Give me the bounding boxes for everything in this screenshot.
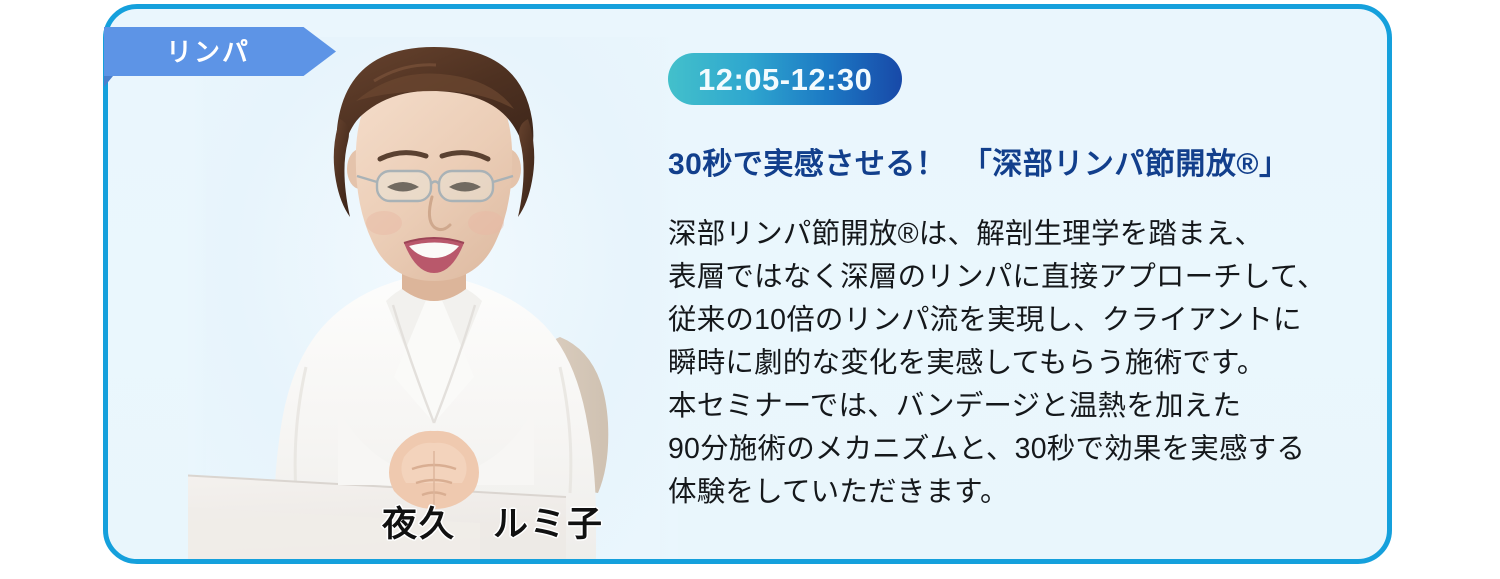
- session-content: 12:05-12:30 30秒で実感させる！ 「深部リンパ節開放®」 深部リンパ…: [668, 53, 1368, 514]
- category-ribbon-label: リンパ: [166, 39, 274, 65]
- session-time-badge: 12:05-12:30: [668, 53, 902, 105]
- description-line: 深部リンパ節開放®は、解剖生理学を踏まえ、: [668, 213, 1368, 256]
- session-card: 夜久 ルミ子 12:05-12:30 30秒で実感させる！ 「深部リンパ節開放®…: [103, 4, 1392, 564]
- description-line: 体験をしていただきます。: [668, 471, 1368, 514]
- session-title: 30秒で実感させる！ 「深部リンパ節開放®」: [668, 147, 1368, 183]
- description-line: 本セミナーでは、バンデージと温熱を加えた: [668, 385, 1368, 428]
- session-card-inner: 夜久 ルミ子 12:05-12:30 30秒で実感させる！ 「深部リンパ節開放®…: [108, 9, 1387, 559]
- session-card-stage: 夜久 ルミ子 12:05-12:30 30秒で実感させる！ 「深部リンパ節開放®…: [0, 0, 1500, 579]
- description-line: 瞬時に劇的な変化を実感してもらう施術です。: [668, 342, 1368, 385]
- category-ribbon-body: リンパ: [104, 27, 336, 76]
- description-line: 従来の10倍のリンパ流を実現し、クライアントに: [668, 299, 1368, 342]
- speaker-photo: [188, 37, 678, 559]
- description-line: 90分施術のメカニズムと、30秒で効果を実感する: [668, 428, 1368, 471]
- speaker-name: 夜久 ルミ子: [293, 496, 693, 547]
- description-line: 表層ではなく深層のリンパに直接アプローチして、: [668, 256, 1368, 299]
- session-description: 深部リンパ節開放®は、解剖生理学を踏まえ、 表層ではなく深層のリンパに直接アプロ…: [668, 213, 1368, 514]
- category-ribbon: リンパ: [104, 27, 336, 76]
